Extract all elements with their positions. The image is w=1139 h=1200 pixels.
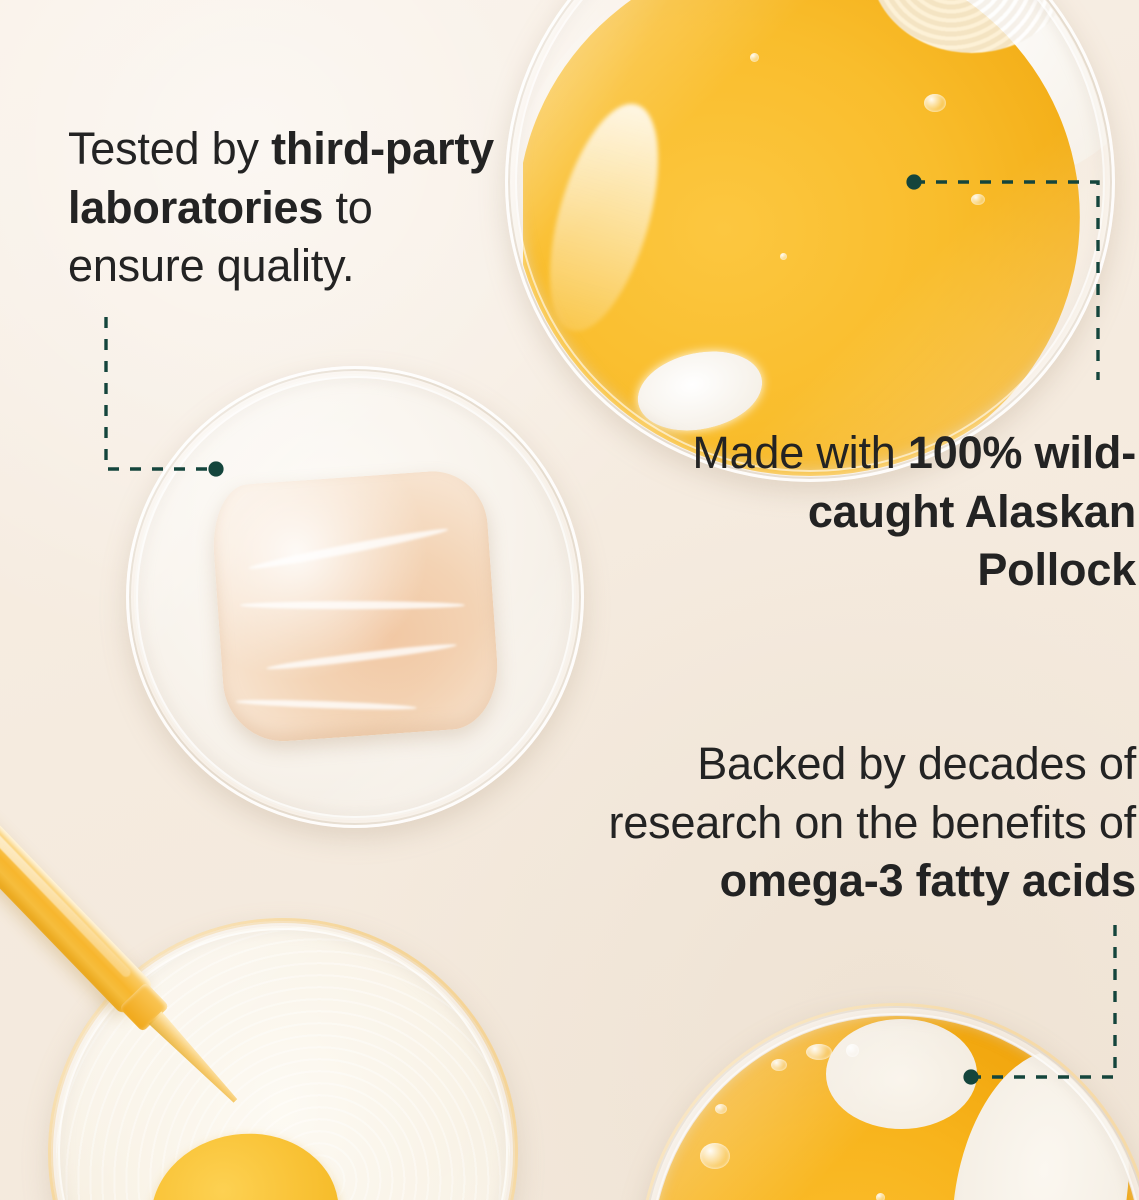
infographic-canvas: Tested by third-party laboratories to en…: [0, 0, 1139, 1200]
callout-text-third-party-labs: Tested by third-party laboratories to en…: [68, 120, 520, 296]
petri-dish-fish-oil: [505, 0, 1115, 482]
petri-dish-pollock-fillet: [126, 366, 584, 828]
dish-rim: [126, 366, 584, 828]
callout-text-omega-3: Backed by decades of research on the ben…: [576, 735, 1136, 911]
petri-dish-emulsion: [48, 918, 518, 1200]
dish-rim: [639, 1003, 1139, 1200]
pipette-highlight: [0, 742, 132, 978]
petri-dish-fish-oil-bubbles: [639, 1003, 1139, 1200]
dish-rim: [48, 918, 518, 1200]
callout-text-wild-caught: Made with 100% wild-caught Alaskan Pollo…: [666, 424, 1136, 600]
